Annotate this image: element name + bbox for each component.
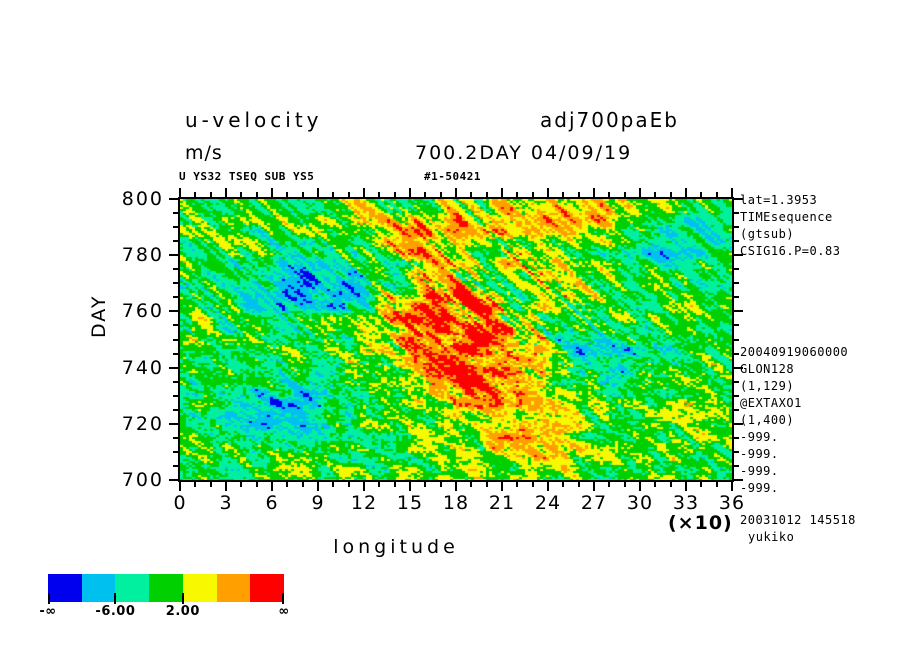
y-axis-tick: [173, 324, 178, 326]
metadata-grid-name: GLON128: [740, 361, 848, 378]
y-axis-tick: [173, 296, 178, 298]
x-axis-tick: [286, 482, 288, 487]
x-axis-tick: [670, 482, 672, 487]
colorbar-tick-label: -6.00: [95, 604, 135, 619]
metadata-axis-name: @EXTAXO1: [740, 395, 848, 412]
metadata-sigma: CSIG16.P=0.83: [740, 243, 840, 260]
x-axis-tick: [624, 482, 626, 487]
y-axis-tick: [169, 254, 178, 256]
y-axis-tick: [169, 479, 178, 481]
x-axis-tick: [670, 192, 672, 197]
x-axis-tick-label: 9: [311, 492, 324, 514]
x-axis-tick: [394, 482, 396, 487]
metadata-missing-4: -999.: [740, 480, 848, 497]
metadata-missing-3: -999.: [740, 463, 848, 480]
chart-title-dataset: adj700paEb: [540, 108, 679, 132]
colorbar-tick-label: ∞: [278, 604, 289, 619]
x-axis-tick: [547, 188, 549, 197]
y-axis-tick: [734, 353, 739, 355]
x-axis-tick: [378, 192, 380, 197]
y-axis-tick: [734, 381, 739, 383]
heatmap-plot-area: 7007207407607808000369121518212427303336: [178, 197, 734, 482]
x-axis-tick-label: 6: [265, 492, 278, 514]
x-axis-tick: [409, 482, 411, 491]
y-axis-tick-label: 740: [122, 357, 164, 379]
x-axis-tick-label: 12: [351, 492, 377, 514]
x-axis-tick: [348, 482, 350, 487]
x-axis-tick: [194, 482, 196, 487]
y-axis-tick: [734, 296, 739, 298]
chart-subtitle-right: #1-50421: [424, 170, 481, 183]
x-axis-tick-label: 24: [535, 492, 561, 514]
x-axis-tick: [639, 188, 641, 197]
x-axis-tick: [470, 192, 472, 197]
x-axis-tick: [501, 188, 503, 197]
x-axis-tick: [225, 188, 227, 197]
metadata-top-block: lat=1.3953 TIMEsequence (gtsub) CSIG16.P…: [740, 192, 840, 260]
y-axis-tick: [173, 226, 178, 228]
y-axis-tick-label: 700: [122, 469, 164, 491]
x-axis-tick: [470, 482, 472, 487]
x-axis-tick: [409, 188, 411, 197]
y-axis-tick: [734, 437, 739, 439]
colorbar-tick: [114, 593, 116, 604]
x-axis-tick: [486, 192, 488, 197]
x-axis-tick: [685, 482, 687, 491]
metadata-timestamp: 20040919060000: [740, 344, 848, 361]
x-axis-tick: [440, 482, 442, 487]
x-axis-tick-label: 18: [443, 492, 469, 514]
y-axis-tick-label: 720: [122, 413, 164, 435]
chart-subtitle-left: U YS32 TSEQ SUB YS5: [179, 170, 314, 183]
x-axis-tick: [654, 192, 656, 197]
x-axis-tick: [486, 482, 488, 487]
x-axis-tick: [700, 192, 702, 197]
x-axis-tick: [394, 192, 396, 197]
y-axis-tick: [169, 198, 178, 200]
x-axis-tick: [332, 482, 334, 487]
x-axis-tick: [286, 192, 288, 197]
x-axis-tick: [179, 188, 181, 197]
footer-block: 20031012 145518 yukiko: [740, 512, 856, 546]
metadata-missing-1: -999.: [740, 429, 848, 446]
x-axis-tick: [363, 188, 365, 197]
x-axis-tick: [455, 482, 457, 491]
x-axis-tick: [578, 192, 580, 197]
footer-timestamp: 20031012 145518: [740, 512, 856, 529]
colorbar-tick: [282, 593, 284, 604]
y-axis-tick: [173, 451, 178, 453]
x-axis-tick: [256, 192, 258, 197]
metadata-bottom-block: 20040919060000 GLON128 (1,129) @EXTAXO1 …: [740, 344, 848, 497]
x-axis-tick: [562, 482, 564, 487]
x-axis-tick: [593, 188, 595, 197]
x-axis-tick: [271, 188, 273, 197]
chart-units-label: m/s: [185, 142, 223, 164]
y-axis-tick: [734, 282, 739, 284]
x-axis-tick-label: 33: [673, 492, 699, 514]
colorbar-tick: [48, 593, 50, 604]
x-axis-tick: [532, 192, 534, 197]
y-axis-tick: [173, 282, 178, 284]
heatmap-canvas: [180, 199, 732, 480]
x-axis-tick: [639, 482, 641, 491]
x-axis-tick-label: 27: [581, 492, 607, 514]
y-axis-tick: [734, 339, 739, 341]
y-axis-tick: [173, 409, 178, 411]
x-axis-tick: [302, 192, 304, 197]
x-axis-tick: [593, 482, 595, 491]
x-axis-tick: [210, 192, 212, 197]
x-axis-tick: [348, 192, 350, 197]
x-axis-tick: [501, 482, 503, 491]
x-axis-tick-label: 15: [397, 492, 423, 514]
y-axis-tick: [734, 212, 739, 214]
x-axis-tick: [731, 482, 733, 491]
y-axis-tick: [734, 268, 739, 270]
y-axis-tick: [173, 395, 178, 397]
y-axis-tick: [173, 339, 178, 341]
x-axis-tick: [654, 482, 656, 487]
y-axis-tick: [734, 409, 739, 411]
x-axis-tick: [516, 482, 518, 487]
x-axis-tick: [562, 192, 564, 197]
y-axis-tick: [734, 395, 739, 397]
x-axis-multiplier: (×10): [668, 512, 733, 534]
x-axis-tick: [685, 188, 687, 197]
y-axis-tick: [173, 465, 178, 467]
x-axis-tick: [731, 188, 733, 197]
x-axis-tick: [225, 482, 227, 491]
metadata-tool: (gtsub): [740, 226, 840, 243]
metadata-lat: lat=1.3953: [740, 192, 840, 209]
x-axis-tick: [317, 482, 319, 491]
metadata-axis-range: (1,400): [740, 412, 848, 429]
metadata-sequence: TIMEsequence: [740, 209, 840, 226]
y-axis-tick: [734, 465, 739, 467]
x-axis-tick: [179, 482, 181, 491]
x-axis-tick-label: 30: [627, 492, 653, 514]
y-axis-tick: [173, 437, 178, 439]
x-axis-tick: [240, 192, 242, 197]
x-axis-tick-label: 0: [173, 492, 186, 514]
y-axis-tick: [734, 451, 739, 453]
y-axis-tick-label: 780: [122, 244, 164, 266]
y-axis-tick: [734, 226, 739, 228]
metadata-grid-range: (1,129): [740, 378, 848, 395]
x-axis-tick: [302, 482, 304, 487]
chart-datetime-label: 700.2DAY 04/09/19: [415, 142, 632, 164]
y-axis-tick-label: 800: [122, 188, 164, 210]
footer-author: yukiko: [740, 529, 856, 546]
x-axis-tick: [194, 192, 196, 197]
y-axis-tick: [173, 381, 178, 383]
x-axis-title: longitude: [333, 536, 459, 558]
y-axis-tick-label: 760: [122, 300, 164, 322]
y-axis-tick: [734, 240, 739, 242]
colorbar-tick: [182, 593, 184, 604]
x-axis-tick: [363, 482, 365, 491]
y-axis-title: DAY: [88, 295, 110, 338]
x-axis-tick: [532, 482, 534, 487]
y-axis-tick: [169, 367, 178, 369]
colorbar-tick-label: -∞: [39, 604, 56, 619]
x-axis-tick: [424, 192, 426, 197]
x-axis-tick: [547, 482, 549, 491]
x-axis-tick: [271, 482, 273, 491]
x-axis-tick: [608, 192, 610, 197]
x-axis-tick: [455, 188, 457, 197]
colorbar-tick-label: 2.00: [166, 604, 200, 619]
x-axis-tick: [716, 482, 718, 487]
x-axis-tick: [440, 192, 442, 197]
y-axis-tick: [173, 353, 178, 355]
x-axis-tick: [716, 192, 718, 197]
x-axis-tick: [516, 192, 518, 197]
x-axis-tick: [317, 188, 319, 197]
x-axis-tick: [240, 482, 242, 487]
x-axis-tick: [424, 482, 426, 487]
x-axis-tick: [624, 192, 626, 197]
x-axis-tick: [608, 482, 610, 487]
x-axis-tick: [210, 482, 212, 487]
x-axis-tick-label: 3: [219, 492, 232, 514]
chart-title-variable: u-velocity: [185, 108, 323, 132]
x-axis-tick-label: 21: [489, 492, 515, 514]
x-axis-tick: [700, 482, 702, 487]
x-axis-tick: [256, 482, 258, 487]
x-axis-tick: [378, 482, 380, 487]
y-axis-tick: [173, 268, 178, 270]
y-axis-tick: [173, 240, 178, 242]
x-axis-tick: [578, 482, 580, 487]
y-axis-tick: [734, 310, 743, 312]
y-axis-tick: [169, 423, 178, 425]
metadata-missing-2: -999.: [740, 446, 848, 463]
x-axis-tick: [332, 192, 334, 197]
y-axis-tick: [169, 310, 178, 312]
y-axis-tick: [173, 212, 178, 214]
y-axis-tick: [734, 324, 739, 326]
